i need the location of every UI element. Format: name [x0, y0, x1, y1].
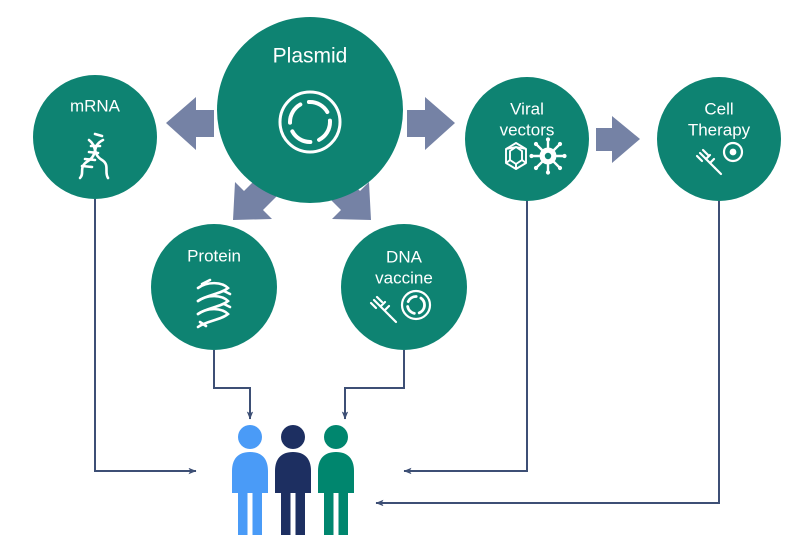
- node-plasmid[interactable]: Plasmid: [217, 17, 403, 203]
- node-dna-vaccine-label-line1: DNA: [386, 247, 423, 266]
- node-viral-vectors-label-line1: Viral: [510, 99, 544, 118]
- node-viral-vectors-label-line2: vectors: [500, 120, 555, 139]
- person-figure: [318, 425, 354, 535]
- node-mrna[interactable]: mRNA: [33, 75, 157, 199]
- node-protein-circle: [151, 224, 277, 350]
- virus-icon: [529, 137, 566, 174]
- block-arrow-right: [407, 97, 455, 150]
- diagram-canvas: Plasmid mRNA: [0, 0, 800, 553]
- node-plasmid-label: Plasmid: [273, 45, 348, 68]
- node-dna-vaccine[interactable]: DNA vaccine: [341, 224, 467, 350]
- connector-protein-to-people: [214, 350, 250, 419]
- node-protein[interactable]: Protein: [151, 224, 277, 350]
- node-protein-label: Protein: [187, 246, 241, 265]
- node-cell-therapy[interactable]: Cell Therapy: [657, 77, 781, 201]
- person-figure: [275, 425, 311, 535]
- people-group: [232, 425, 354, 535]
- block-arrow-left: [166, 97, 214, 150]
- connector-dna-vaccine-to-people: [345, 350, 404, 419]
- node-mrna-circle: [33, 75, 157, 199]
- block-arrow-right: [596, 116, 640, 163]
- node-viral-vectors[interactable]: Viral vectors: [465, 77, 589, 201]
- diagram-svg: Plasmid mRNA: [0, 0, 800, 553]
- node-dna-vaccine-label-line2: vaccine: [375, 268, 433, 287]
- person-figure: [232, 425, 268, 535]
- node-cell-therapy-label-line1: Cell: [704, 99, 733, 118]
- node-cell-therapy-label-line2: Therapy: [688, 120, 751, 139]
- node-mrna-label: mRNA: [70, 96, 121, 115]
